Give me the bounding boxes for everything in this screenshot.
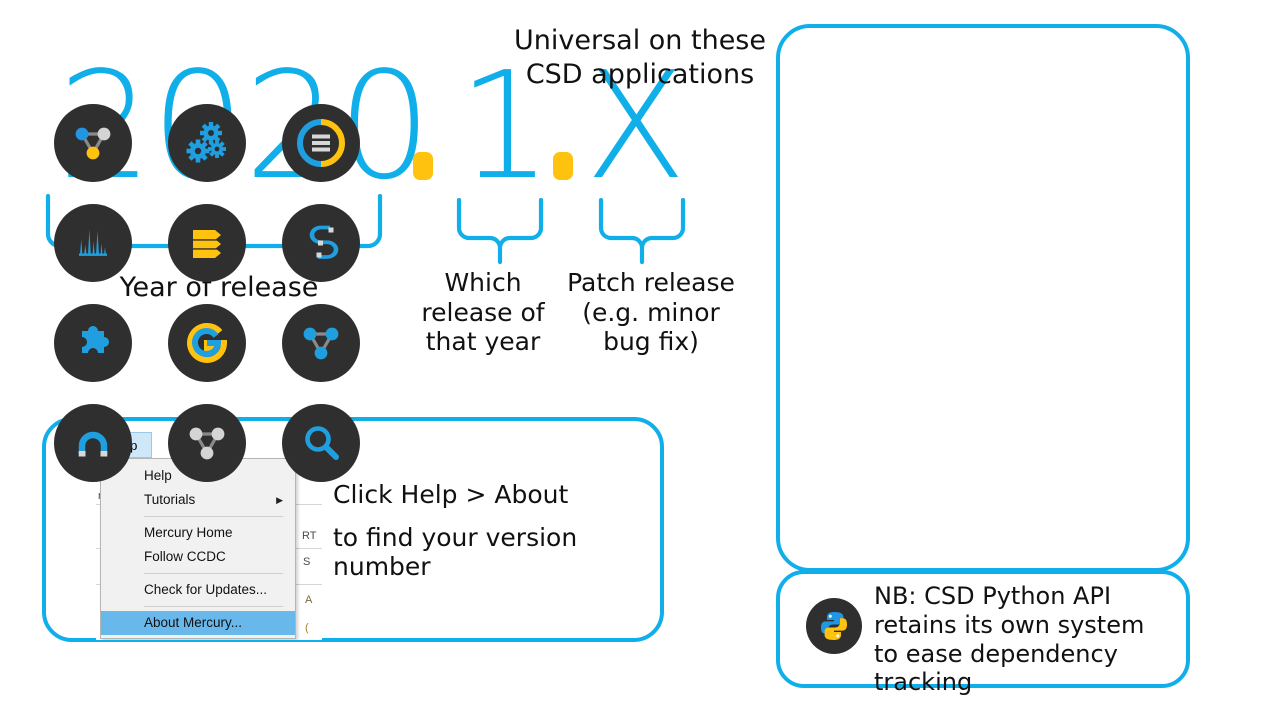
- menu-separator: [144, 606, 283, 607]
- menu-item-label: About Mercury...: [144, 615, 242, 630]
- python-api-note-text: NB: CSD Python API retains its own syste…: [874, 582, 1174, 697]
- application-icon-grid: [36, 104, 378, 482]
- slide-canvas: 2020 1 X Year of release Which release o…: [0, 0, 1280, 720]
- app-icon-crossminer[interactable]: [168, 404, 246, 482]
- python-icon-circle: [806, 598, 862, 654]
- python-api-note-card: NB: CSD Python API retains its own syste…: [776, 570, 1190, 688]
- menu-item-tutorials[interactable]: Tutorials ▶: [101, 488, 295, 512]
- menu-item-label: Tutorials: [144, 492, 195, 507]
- menu-item-check-for-updates[interactable]: Check for Updates...: [101, 578, 295, 602]
- magnet-icon: [70, 420, 116, 466]
- gears-icon: [184, 120, 230, 166]
- brace-patch-icon: [598, 198, 686, 264]
- version-dot-1: [413, 152, 433, 180]
- chevron-right-icon: ▶: [276, 488, 283, 512]
- caption-patch-release: Patch release (e.g. minor bug fix): [558, 268, 744, 357]
- instruction-line-1: Click Help > About: [333, 480, 568, 509]
- document-ring-icon: [296, 118, 346, 168]
- app-icon-isostar[interactable]: [54, 404, 132, 482]
- menu-item-mercury-home[interactable]: Mercury Home: [101, 521, 295, 545]
- help-dropdown-menu: Help Tutorials ▶ Mercury Home Follow CCD…: [100, 458, 296, 639]
- bg-fragment: S: [303, 556, 310, 568]
- menu-separator: [144, 573, 283, 574]
- chevrons-icon: [185, 221, 229, 265]
- version-dot-2: [553, 152, 573, 180]
- mercury-icon: [70, 120, 116, 166]
- menu-item-label: Check for Updates...: [144, 582, 267, 597]
- superstar-icon: [298, 220, 344, 266]
- gold-g-icon: [183, 319, 231, 367]
- menu-item-label: Mercury Home: [144, 525, 233, 540]
- app-icon-search[interactable]: [282, 404, 360, 482]
- app-icon-webcsd[interactable]: [282, 104, 360, 182]
- menu-item-follow-ccdc[interactable]: Follow CCDC: [101, 545, 295, 569]
- csd-applications-card: [776, 24, 1190, 572]
- app-icon-csd-materials[interactable]: [168, 104, 246, 182]
- menu-item-about-mercury[interactable]: About Mercury...: [101, 611, 295, 635]
- instruction-line-2: to find your version number: [333, 524, 653, 582]
- help-menu-instruction: Click Help > About to find your version …: [333, 478, 653, 582]
- menu-item-label: Follow CCDC: [144, 549, 226, 564]
- brace-minor-icon: [456, 198, 544, 264]
- app-icon-mercury[interactable]: [54, 104, 132, 182]
- app-icon-conquest[interactable]: [282, 304, 360, 382]
- search-icon: [298, 420, 344, 466]
- app-icon-gold[interactable]: [168, 304, 246, 382]
- bg-fragment: A: [305, 594, 312, 606]
- app-icon-hermes[interactable]: [168, 204, 246, 282]
- app-icon-gold-plugin[interactable]: [54, 304, 132, 382]
- menu-separator: [144, 516, 283, 517]
- network-blue-icon: [298, 320, 344, 366]
- app-icon-superstar[interactable]: [282, 204, 360, 282]
- python-icon: [817, 609, 851, 643]
- puzzle-icon: [72, 322, 114, 364]
- network-grey-icon: [184, 420, 230, 466]
- bg-fragment: (: [305, 622, 309, 634]
- python-icon-wrap: [806, 598, 862, 654]
- bg-fragment: RT: [302, 530, 316, 542]
- diffraction-icon: [71, 221, 115, 265]
- caption-which-release: Which release of that year: [420, 268, 546, 357]
- app-icon-mogul[interactable]: [54, 204, 132, 282]
- apps-panel-title: Universal on these CSD applications: [0, 24, 1280, 92]
